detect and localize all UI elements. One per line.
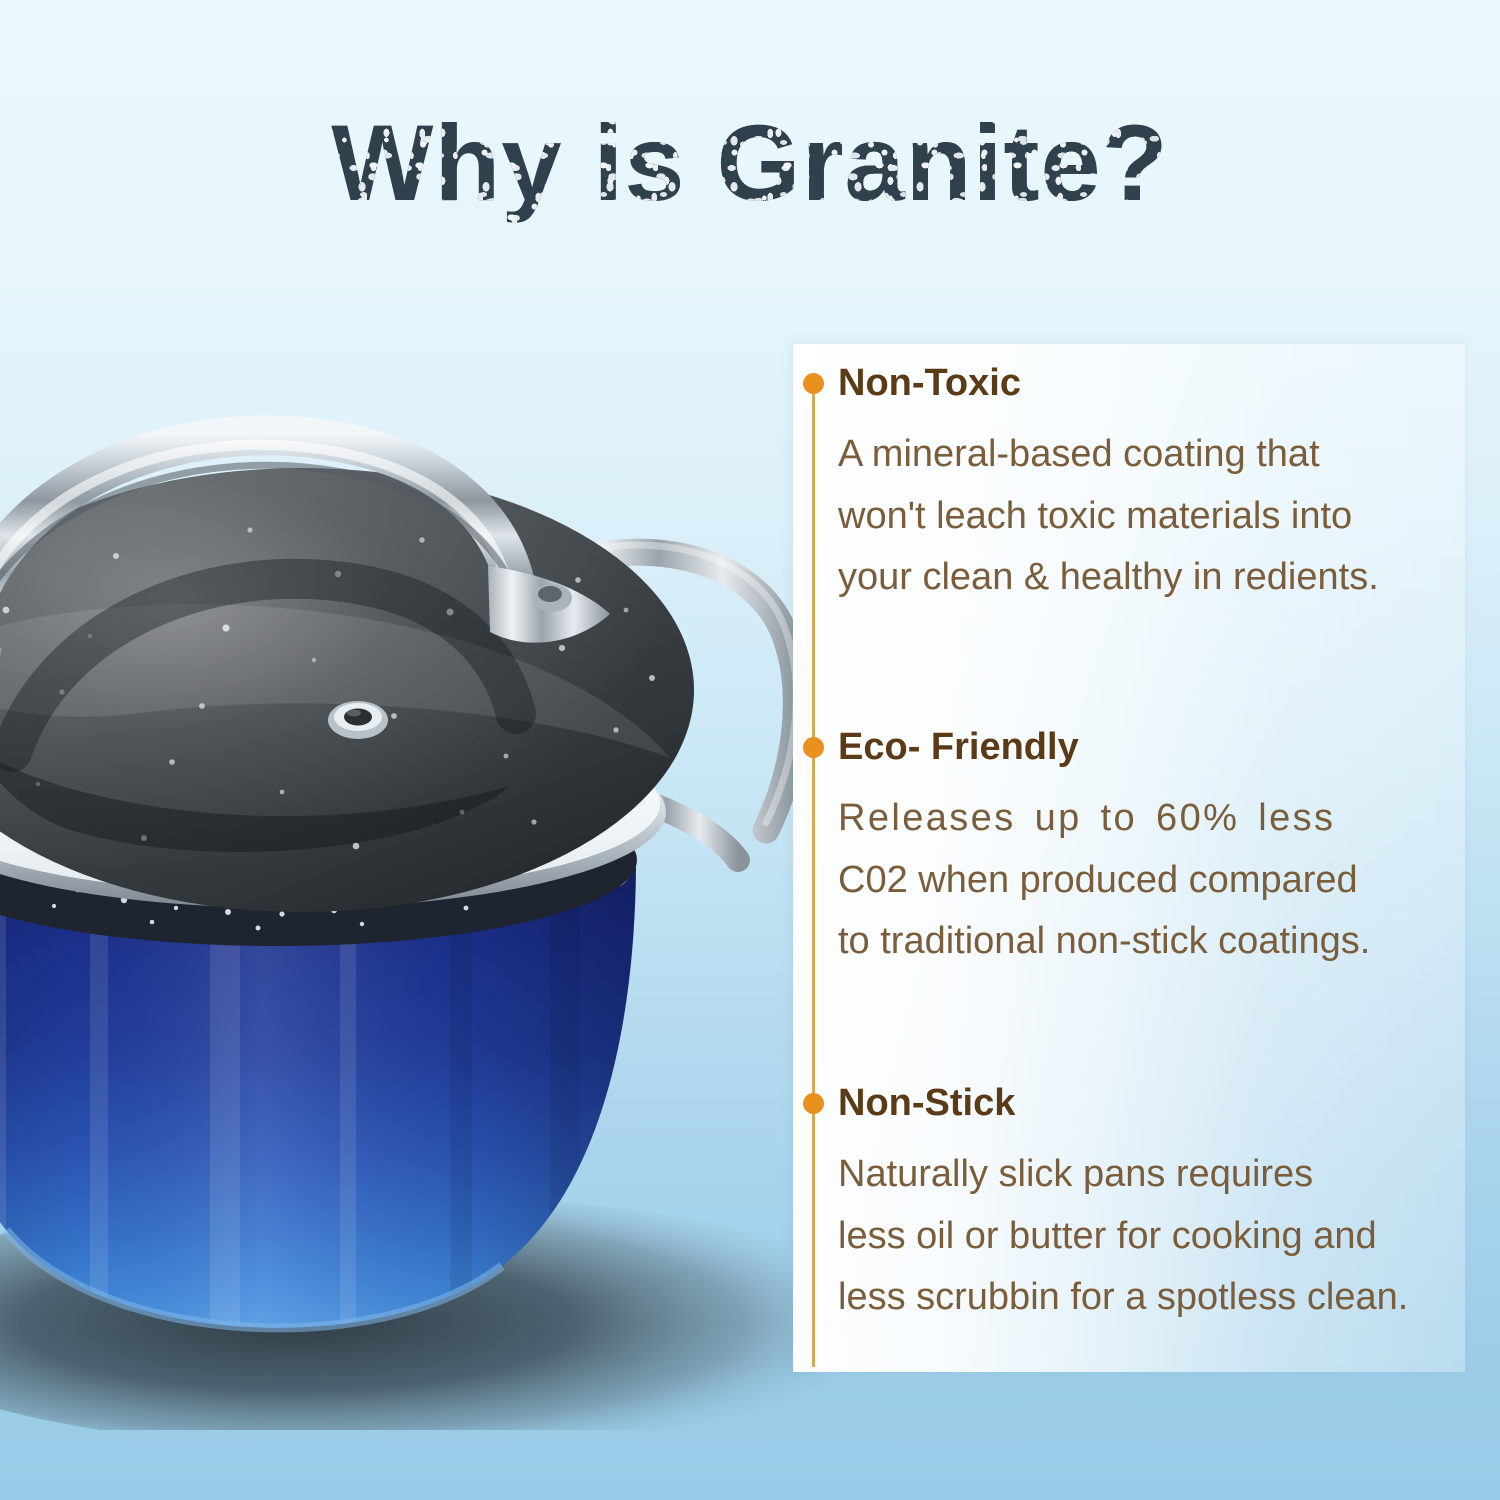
feature-body: Naturally slick pans requires less oil o… bbox=[838, 1144, 1450, 1329]
page-title: Why is Granite? bbox=[0, 104, 1500, 223]
feature-heading: Non-Stick bbox=[838, 1084, 1450, 1122]
bullet-dot-icon bbox=[803, 1093, 824, 1114]
feature-heading: Non-Toxic bbox=[838, 364, 1450, 402]
product-photo-stock-pot bbox=[0, 360, 830, 1430]
feature-item-non-stick: Non-Stick Naturally slick pans requires … bbox=[838, 1084, 1450, 1329]
bullet-dot-icon bbox=[803, 737, 824, 758]
steam-vent bbox=[328, 701, 388, 739]
feature-body: Releases up to 60% less C02 when produce… bbox=[838, 788, 1450, 973]
feature-heading: Eco- Friendly bbox=[838, 728, 1450, 766]
feature-item-non-toxic: Non-Toxic A mineral-based coating that w… bbox=[838, 364, 1450, 609]
feature-item-eco-friendly: Eco- Friendly Releases up to 60% less C0… bbox=[838, 728, 1450, 973]
feature-body: A mineral-based coating that won't leach… bbox=[838, 424, 1450, 609]
bullet-dot-icon bbox=[803, 373, 824, 394]
timeline-rail bbox=[812, 392, 815, 1367]
infographic-canvas: Why is Granite? Why is Granite? bbox=[0, 0, 1500, 1500]
